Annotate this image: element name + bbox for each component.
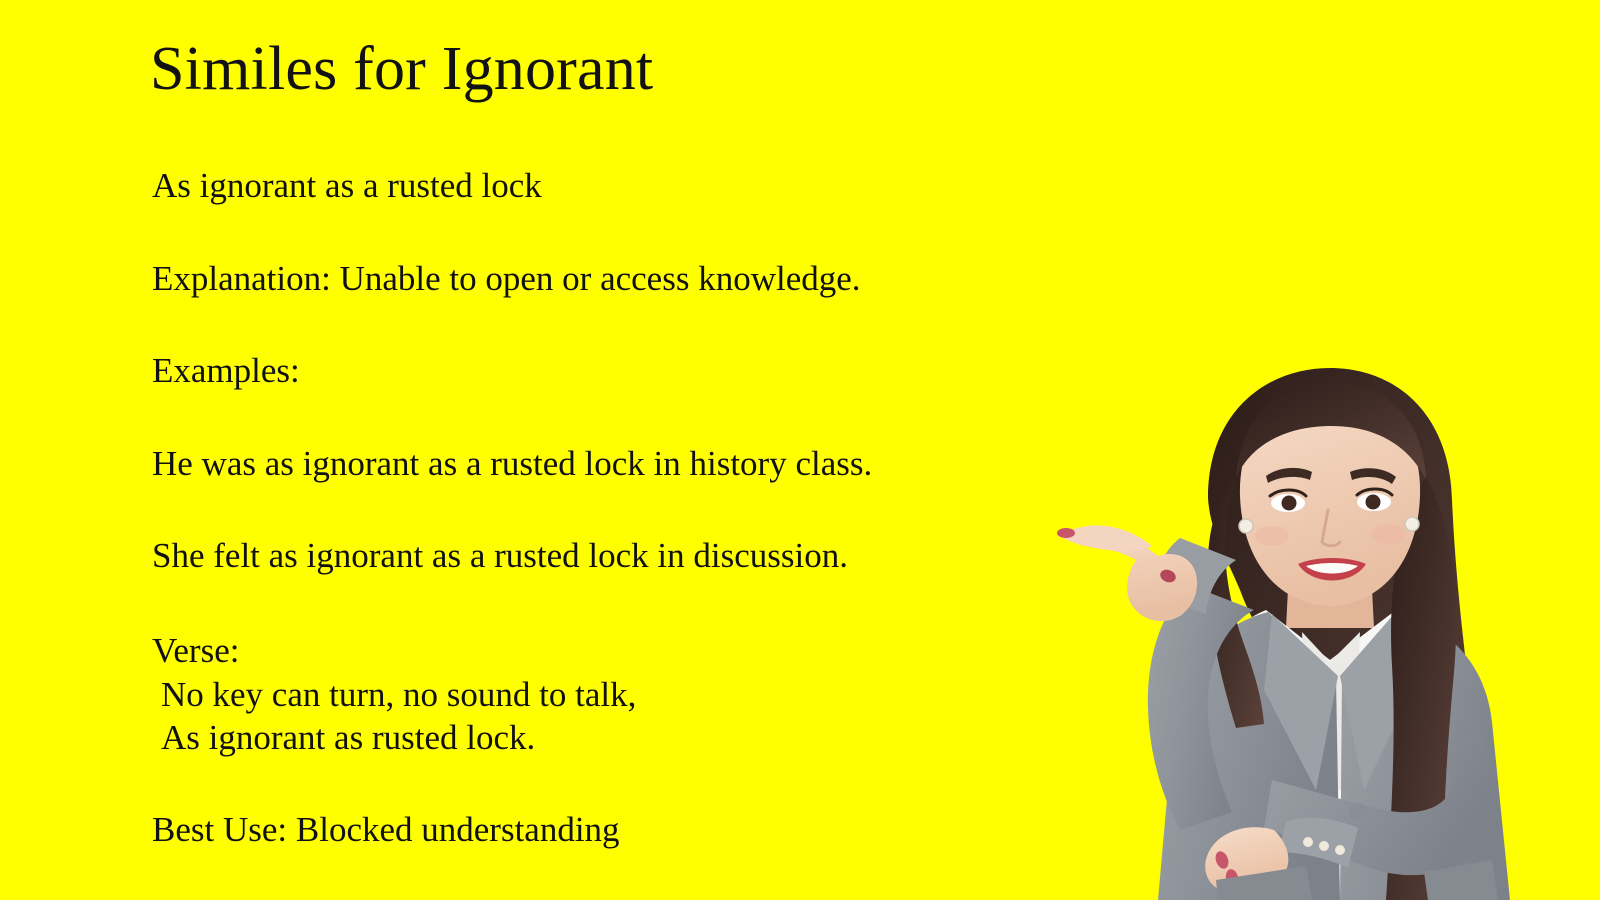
presenter-illustration bbox=[1040, 360, 1600, 900]
verse-label: Verse: bbox=[152, 629, 1082, 673]
lower-cuff-button-2 bbox=[1319, 841, 1329, 851]
verse-line-2: As ignorant as rusted lock. bbox=[152, 716, 1082, 760]
text-content-column: Similes for Ignorant As ignorant as a ru… bbox=[0, 0, 1100, 900]
lower-cuff-button-1 bbox=[1303, 837, 1313, 847]
verse-block: Verse: No key can turn, no sound to talk… bbox=[152, 629, 1082, 760]
index-finger bbox=[1060, 525, 1152, 551]
earring-right bbox=[1405, 517, 1419, 531]
lower-cuff-button-3 bbox=[1335, 845, 1345, 855]
example-item-2: She felt as ignorant as a rusted lock in… bbox=[152, 536, 1082, 577]
blazer-front-button bbox=[1349, 803, 1367, 821]
examples-label: Examples: bbox=[152, 351, 1082, 392]
verse-line-1: No key can turn, no sound to talk, bbox=[152, 673, 1082, 717]
simile-line: As ignorant as a rusted lock bbox=[152, 166, 1082, 207]
explanation-line: Explanation: Unable to open or access kn… bbox=[152, 259, 1082, 300]
slide-body: As ignorant as a rusted lock Explanation… bbox=[152, 166, 1082, 851]
page-title: Similes for Ignorant bbox=[150, 36, 653, 103]
pupil-right bbox=[1366, 495, 1381, 510]
example-item-1: He was as ignorant as a rusted lock in h… bbox=[152, 444, 1082, 485]
best-use-line: Best Use: Blocked understanding bbox=[152, 810, 1082, 851]
blush-right bbox=[1371, 524, 1405, 544]
pupil-left bbox=[1282, 496, 1297, 511]
fingernail-index bbox=[1057, 528, 1075, 538]
slide-canvas: Similes for Ignorant As ignorant as a ru… bbox=[0, 0, 1600, 900]
earring-left bbox=[1239, 519, 1253, 533]
blush-left bbox=[1255, 526, 1289, 546]
presenter-figure-image bbox=[1040, 360, 1600, 900]
